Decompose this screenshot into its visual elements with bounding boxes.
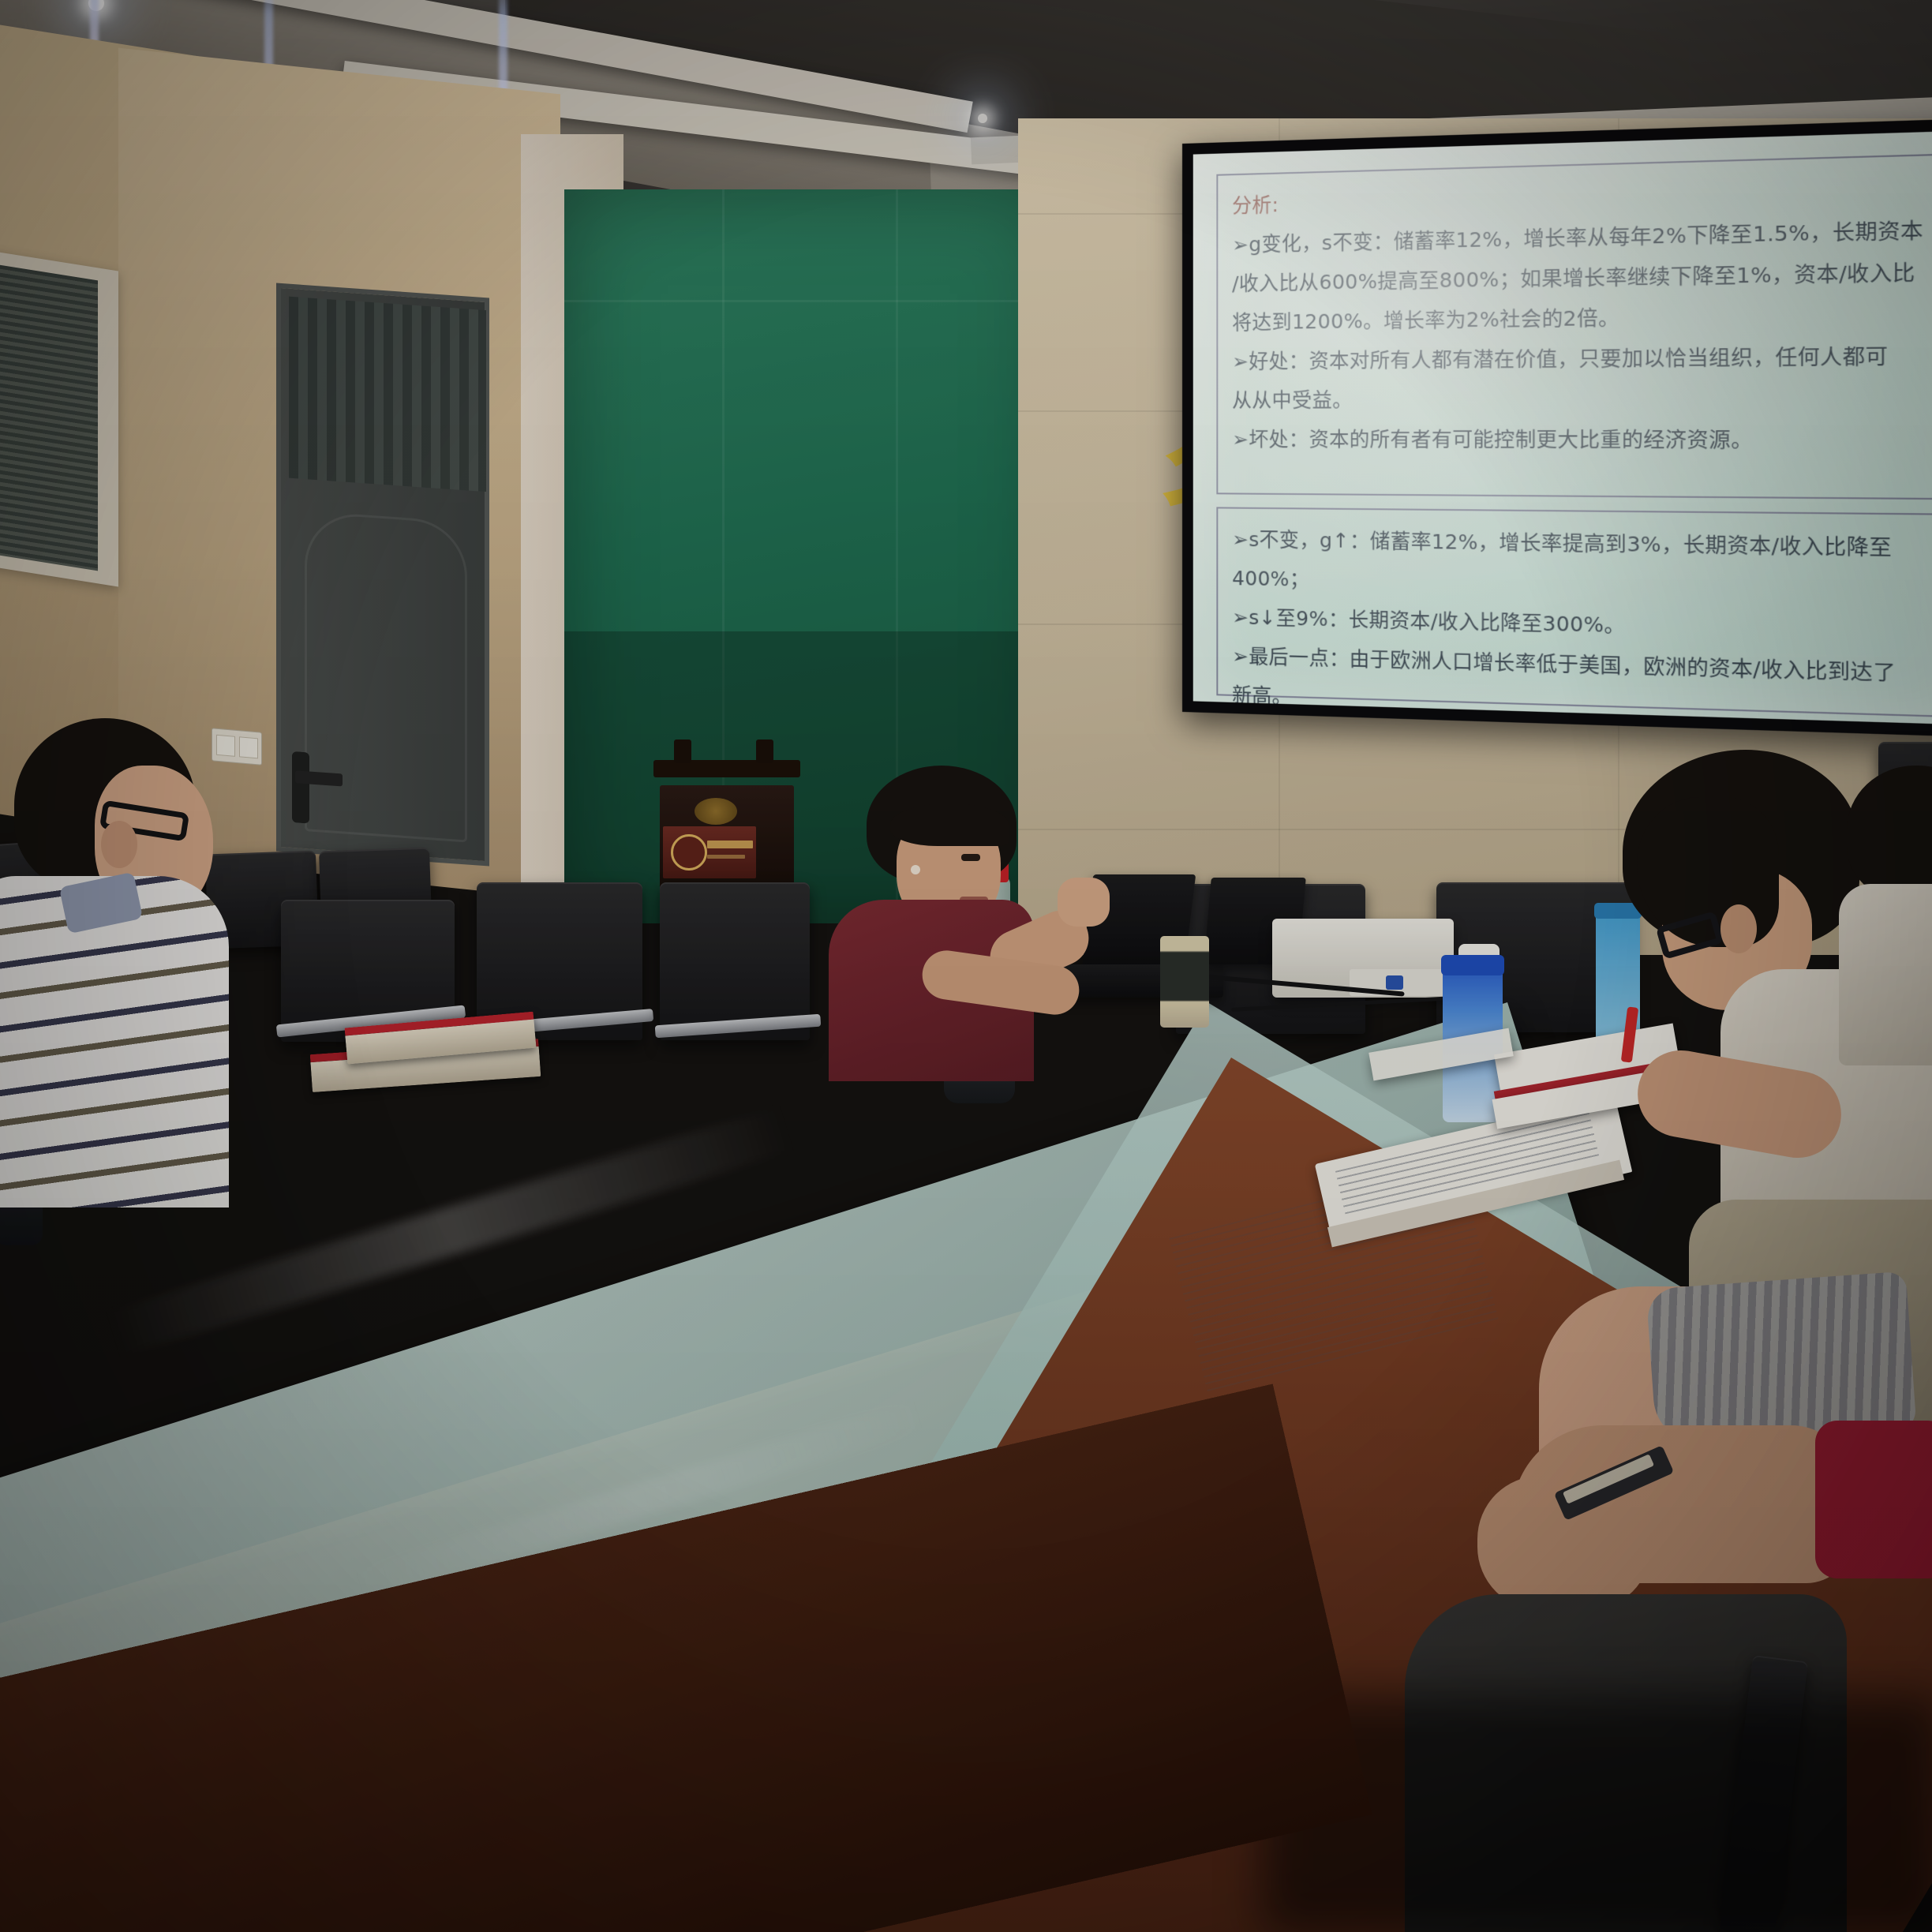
door-panel — [305, 511, 467, 842]
ear — [101, 821, 137, 868]
hair — [1847, 766, 1932, 900]
slide-line: ➢好处：资本对所有人都有潜在价值，只要加以恰当组织，任何人都可 — [1232, 335, 1932, 381]
green-panel-seam-1 — [564, 300, 1054, 302]
lectern-sign-subtext — [707, 855, 745, 859]
downlight-8 — [978, 114, 987, 123]
projector-port-blue — [1386, 975, 1403, 990]
lectern-gold-ornament — [695, 798, 737, 825]
person-back-right — [1847, 766, 1932, 1065]
slide-line: 从从中受益。 — [1232, 377, 1932, 420]
window-with-blinds — [0, 250, 118, 587]
lectern-sign-text — [707, 841, 753, 848]
person-woman-presenter — [821, 766, 1152, 1097]
hand-gesturing — [1058, 878, 1110, 927]
ear — [1720, 904, 1757, 953]
slide-line: ➢坏处：资本的所有者有可能控制更大比重的经济资源。 — [1232, 419, 1932, 461]
red-fabric — [1815, 1421, 1932, 1578]
tea-thermos[interactable] — [1160, 936, 1209, 1028]
door-transom-window — [289, 297, 486, 492]
person-man-striped-shirt — [0, 710, 300, 1200]
slide-textbox-2: ➢s不变，g↑：储蓄率12%，增长率提高到3%，长期资本/收入比降至 400%；… — [1216, 507, 1932, 717]
lectern-emblem-icon — [671, 834, 707, 871]
window-blinds — [0, 263, 98, 571]
projection-screen: 分析: ➢g变化，s不变：储蓄率12%，增长率从每年2%下降至1.5%，长期资本… — [1193, 130, 1932, 725]
door[interactable] — [276, 283, 489, 867]
torso — [1839, 884, 1932, 1065]
blue-bottle-cap-1 — [1441, 955, 1504, 975]
eye — [961, 854, 980, 861]
lectern-finial-left — [674, 739, 691, 763]
photo-scene: 名 分析: ➢g变化，s不变：储蓄率12%，增长率从每年2%下降至1.5%，长期… — [0, 0, 1932, 1932]
torso-striped-shirt — [0, 876, 229, 1207]
hair-fringe — [890, 803, 1009, 846]
earring — [911, 865, 920, 874]
lectern-finial-right — [756, 739, 773, 763]
slide-textbox-1: 分析: ➢g变化，s不变：储蓄率12%，增长率从每年2%下降至1.5%，长期资本… — [1216, 153, 1932, 500]
projection-screen-frame: 分析: ➢g变化，s不变：储蓄率12%，增长率从每年2%下降至1.5%，长期资本… — [1182, 118, 1932, 737]
